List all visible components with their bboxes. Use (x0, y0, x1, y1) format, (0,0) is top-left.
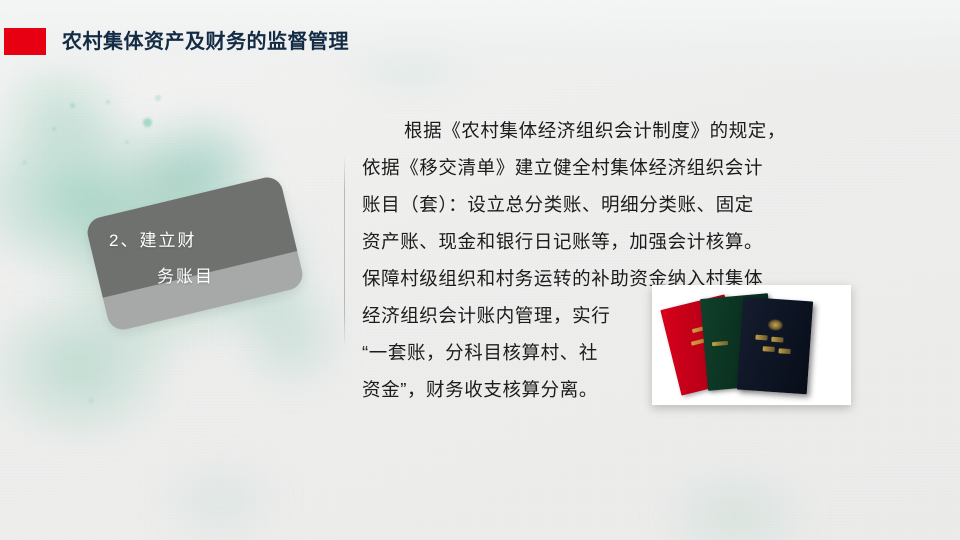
ink-droplet (70, 103, 75, 108)
ink-droplet (125, 140, 129, 144)
callout-line-2: 务账目 (157, 262, 214, 287)
vertical-divider (344, 155, 345, 347)
red-accent-block (4, 28, 46, 55)
body-line: 账目（套）：设立总分类账、明细分类账、固定 (362, 186, 862, 223)
page-title: 农村集体资产及财务的监督管理 (62, 25, 349, 54)
ink-droplet (88, 398, 94, 404)
slide-canvas: 农村集体资产及财务的监督管理 2、建立财 务账目 根据《农村集体经济组织会计制度… (0, 0, 960, 540)
ink-droplet (22, 160, 27, 165)
gold-title-bar (778, 348, 790, 354)
body-line: 根据《农村集体经济组织会计制度》的规定， (362, 112, 862, 149)
ink-droplet (143, 118, 152, 127)
slide-header: 农村集体资产及财务的监督管理 (0, 0, 960, 78)
body-line: 资产账、现金和银行日记账等，加强会计核算。 (362, 223, 862, 260)
gold-title-bar (712, 341, 728, 346)
gold-title-bar (763, 346, 775, 352)
gold-title-bar (755, 335, 767, 341)
gold-title-bar (771, 337, 783, 343)
callout-text-group: 2、建立财 务账目 (95, 196, 295, 311)
section-callout[interactable]: 2、建立财 务账目 (84, 174, 305, 333)
callout-line-1: 2、建立财 (109, 226, 196, 251)
ink-droplet (155, 95, 161, 101)
body-line: 依据《移交清单》建立健全村集体经济组织会计 (362, 149, 862, 186)
navy-ledger-book (737, 297, 813, 395)
gold-emblem-icon (767, 318, 784, 331)
ink-droplet (52, 127, 56, 131)
ledger-books-photo (652, 285, 851, 405)
ink-droplet (106, 100, 110, 104)
